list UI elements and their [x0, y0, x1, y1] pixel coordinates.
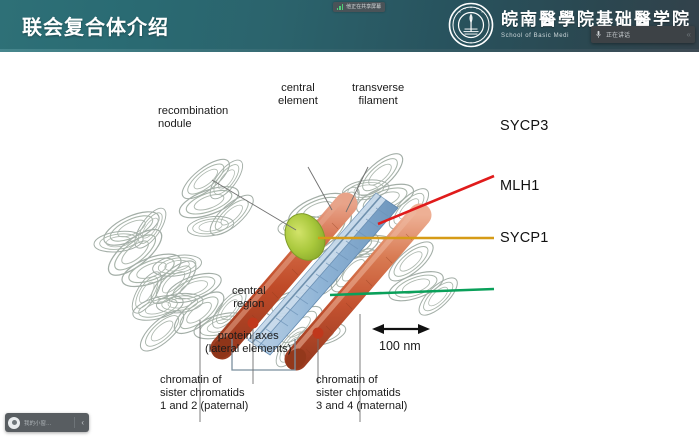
label-chromatin-left: chromatin of sister chromatids 1 and 2 (…	[160, 374, 248, 413]
floating-mini-toolbar[interactable]: 我的小窗… ‹	[5, 413, 89, 432]
scale-bar-icon	[372, 324, 430, 334]
label-transverse-filament: transverse filament	[352, 82, 404, 108]
user-avatar-icon	[8, 417, 20, 429]
label-chromatin-right: chromatin of sister chromatids 3 and 4 (…	[316, 374, 407, 413]
screen-sharing-label: 他正在共享屏幕	[346, 5, 381, 10]
label-central-region: central region	[232, 285, 266, 311]
microphone-icon	[596, 30, 601, 39]
label-scale-bar: 100 nm	[379, 340, 421, 353]
slide-header: 联会复合体介绍 他正在共享屏幕 皖南	[0, 0, 699, 52]
synaptonemal-complex-figure: recombination nodule central element tra…	[0, 52, 699, 447]
label-protein-axes: protein axes (lateral elements)	[205, 330, 291, 356]
presentation-slide: 联会复合体介绍 他正在共享屏幕 皖南	[0, 0, 699, 447]
callout-line-sycp3	[378, 176, 494, 224]
divider	[74, 417, 75, 428]
speaking-label: 正在讲话	[606, 30, 630, 39]
university-crest-icon	[448, 2, 494, 48]
collapse-chevron-icon[interactable]: «	[687, 30, 690, 39]
signal-bars-icon	[337, 4, 343, 10]
page-title: 联会复合体介绍	[22, 11, 169, 40]
screen-sharing-badge: 他正在共享屏幕	[333, 2, 385, 12]
collapse-chevron-icon[interactable]: ‹	[79, 418, 86, 427]
callout-label-mlh1: MLH1	[500, 178, 539, 194]
label-central-element: central element	[278, 82, 318, 108]
label-recombination-nodule: recombination nodule	[158, 105, 228, 131]
callout-label-sycp1: SYCP1	[500, 230, 549, 246]
mini-toolbar-label: 我的小窗…	[24, 419, 52, 427]
callout-label-sycp3: SYCP3	[500, 118, 549, 134]
speaking-toast[interactable]: 正在讲话 «	[591, 26, 695, 43]
